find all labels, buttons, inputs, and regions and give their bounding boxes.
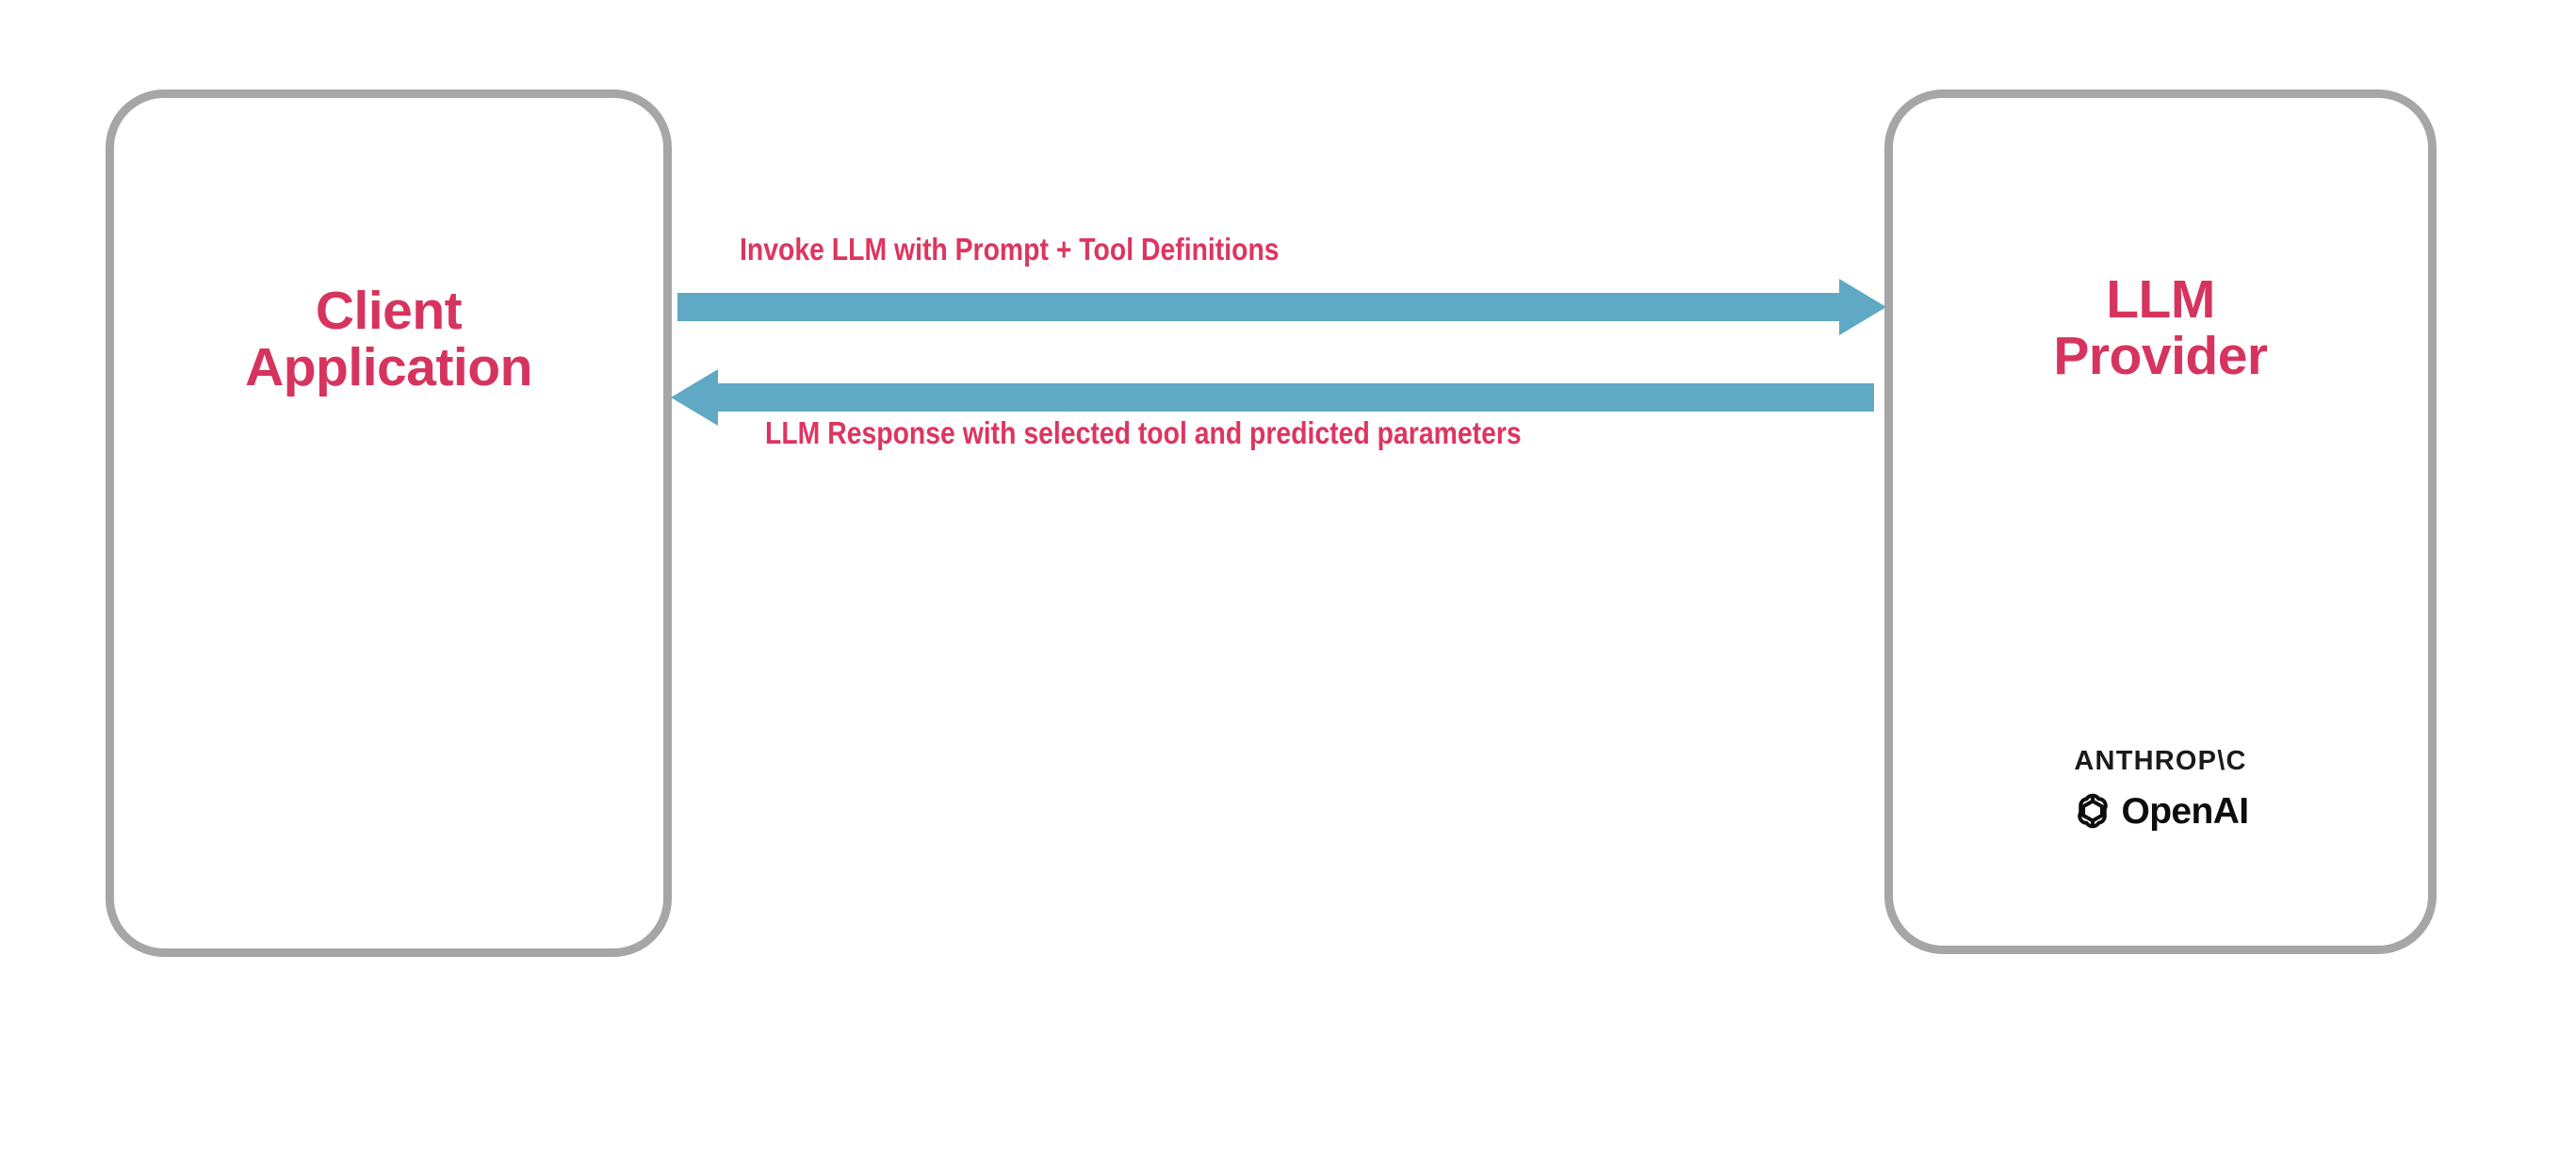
arrow-response-label: LLM Response with selected tool and pred… — [765, 417, 1522, 448]
anthropic-logo: ANTHROP\C — [2074, 748, 2246, 775]
node-llm-provider-title: LLM Provider — [1893, 272, 2428, 385]
node-llm-provider[interactable]: LLM Provider ANTHROP\C OpenAI — [1884, 89, 2437, 954]
node-client-application-title: Client Application — [114, 283, 663, 397]
openai-logo: OpenAI — [2072, 790, 2248, 832]
openai-wordmark-label: OpenAI — [2121, 793, 2248, 830]
provider-logo-stack: ANTHROP\C OpenAI — [1893, 748, 2428, 832]
arrow-request-label: Invoke LLM with Prompt + Tool Definition… — [740, 234, 1280, 265]
openai-mark-icon — [2072, 790, 2113, 832]
arrow-request — [671, 279, 1886, 335]
node-client-application[interactable]: Client Application — [106, 89, 672, 957]
diagram-canvas: Client Application LLM Provider ANTHROP\… — [0, 0, 2576, 1166]
